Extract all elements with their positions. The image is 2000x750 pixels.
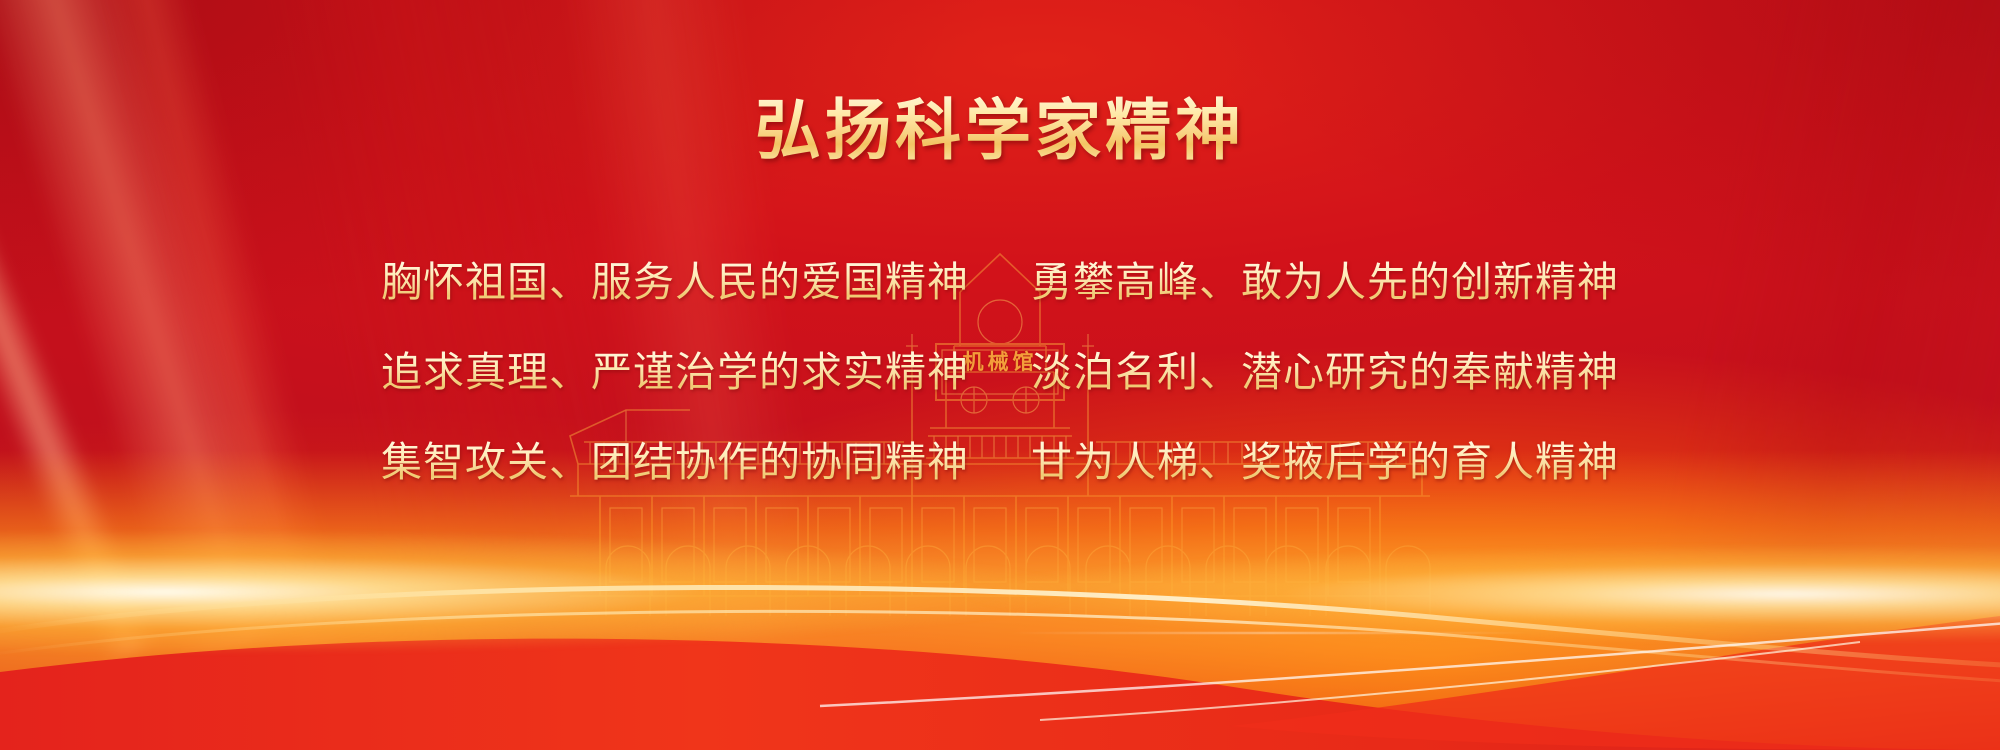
slogan-2-right: 淡泊名利、潜心研究的奉献精神 — [1031, 350, 1619, 396]
slogan-2-left: 追求真理、严谨治学的求实精神 — [381, 350, 969, 396]
page-title: 弘扬科学家精神 — [0, 96, 2000, 165]
slogan-1-right: 勇攀高峰、敢为人先的创新精神 — [1031, 260, 1619, 306]
slogan-list: 胸怀祖国、服务人民的爱国精神 勇攀高峰、敢为人先的创新精神 追求真理、严谨治学的… — [0, 260, 2000, 530]
slogan-row-1: 胸怀祖国、服务人民的爱国精神 勇攀高峰、敢为人先的创新精神 — [0, 260, 2000, 306]
slogan-3-left: 集智攻关、团结协作的协同精神 — [381, 440, 969, 486]
slogan-row-2: 追求真理、严谨治学的求实精神 淡泊名利、潜心研究的奉献精神 — [0, 350, 2000, 396]
slogan-row-3: 集智攻关、团结协作的协同精神 甘为人梯、奖掖后学的育人精神 — [0, 440, 2000, 486]
slogan-3-right: 甘为人梯、奖掖后学的育人精神 — [1031, 440, 1619, 486]
banner-content: 弘扬科学家精神 胸怀祖国、服务人民的爱国精神 勇攀高峰、敢为人先的创新精神 追求… — [0, 0, 2000, 750]
scientist-spirit-banner: 机械馆 — [0, 0, 2000, 750]
slogan-1-left: 胸怀祖国、服务人民的爱国精神 — [381, 260, 969, 306]
